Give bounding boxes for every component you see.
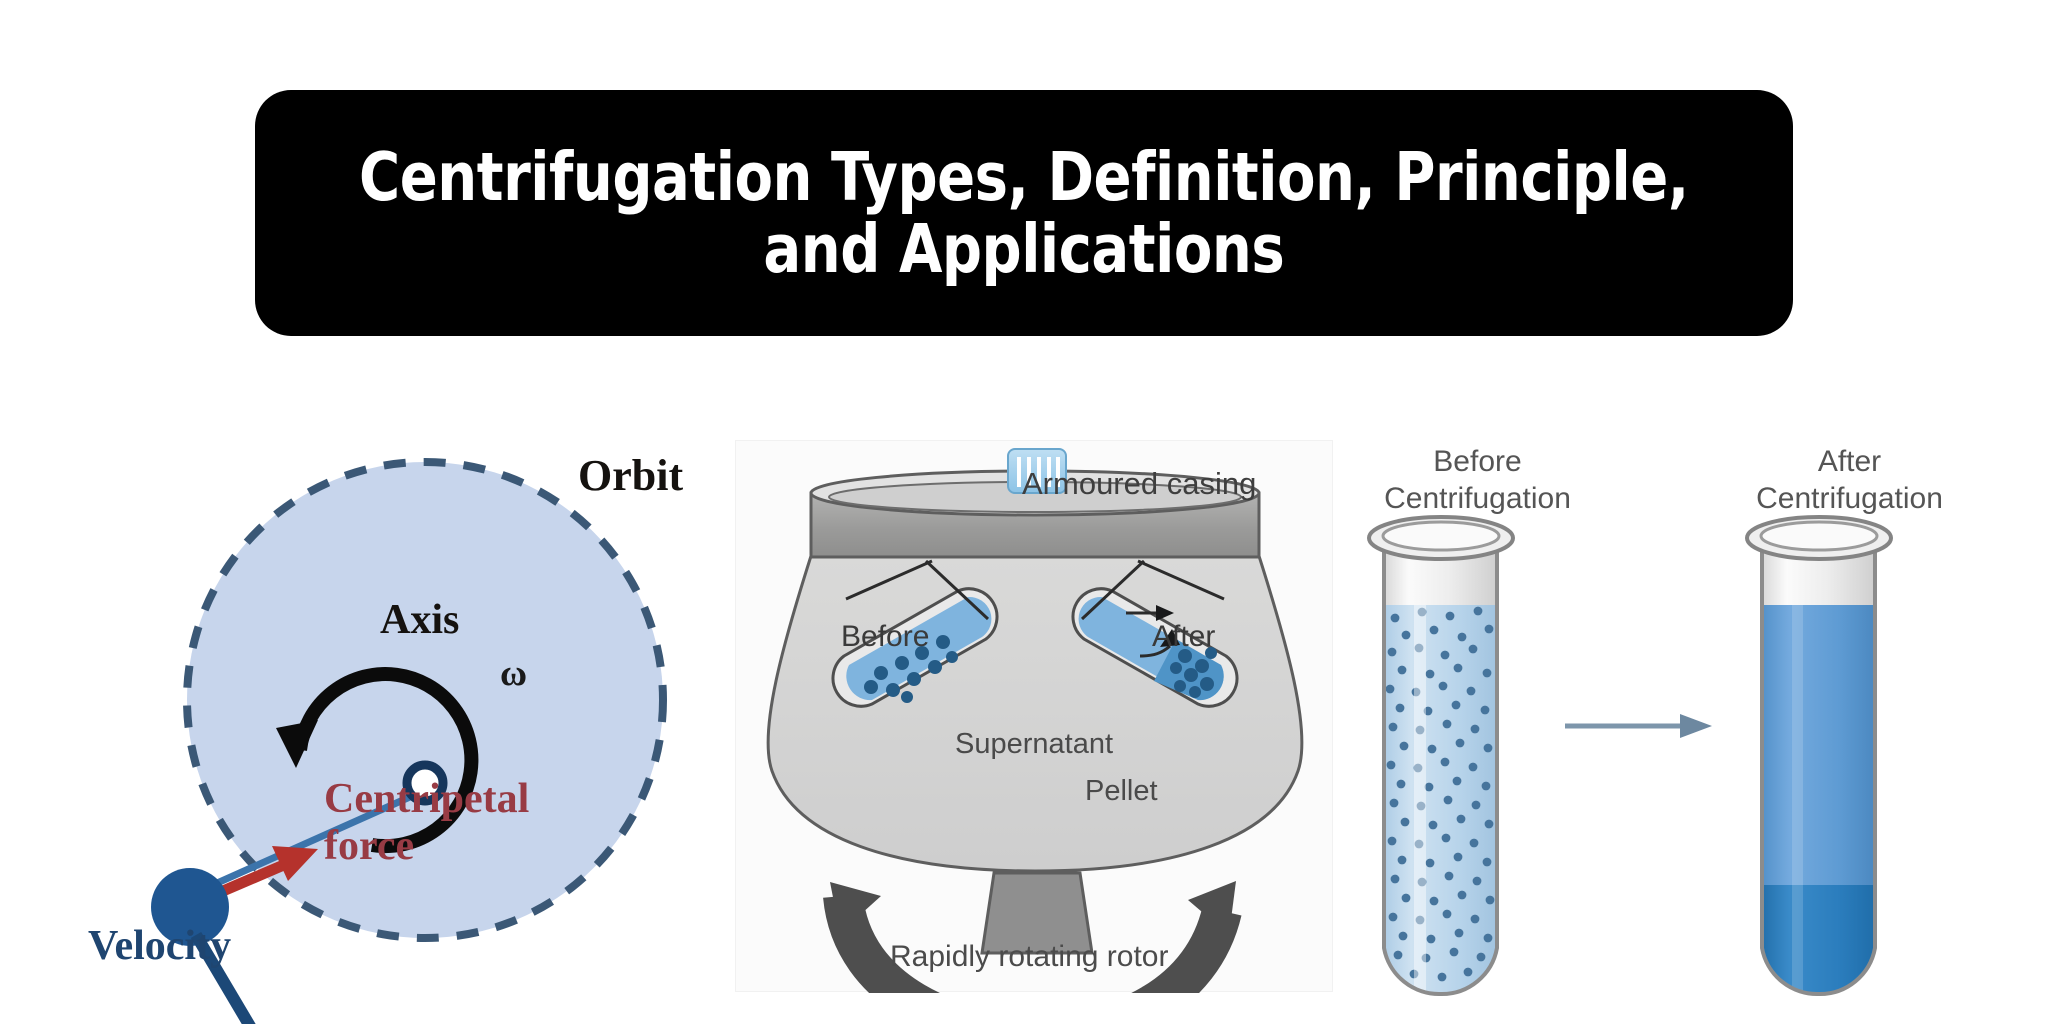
- label-after: After: [1152, 620, 1215, 654]
- label-orbit: Orbit: [578, 450, 683, 501]
- rotor-bowl: [768, 556, 1302, 871]
- tube-after-centrifugation: [1747, 517, 1891, 1005]
- tube-before-centrifugation: [1369, 517, 1513, 1005]
- centrifuge-rotor-graphic: [736, 441, 1334, 993]
- label-armoured-casing: Armoured casing: [1022, 466, 1256, 502]
- page-title-card: Centrifugation Types, Definition, Princi…: [255, 90, 1793, 336]
- label-pellet: Pellet: [1085, 775, 1158, 808]
- page-title-line-1: Centrifugation Types, Definition, Princi…: [359, 138, 1689, 216]
- page-title-line-2: and Applications: [764, 210, 1285, 288]
- tube-comparison-graphic: [1340, 430, 2048, 1024]
- label-supernatant: Supernatant: [955, 728, 1113, 761]
- figure-tube-comparison: [1340, 430, 2048, 1024]
- label-before: Before: [841, 620, 929, 654]
- figure-centrifuge-panel: [735, 440, 1333, 992]
- label-rapidly-rotating-rotor: Rapidly rotating rotor: [890, 940, 1168, 974]
- caption-before-centrifugation: Before Centrifugation: [1365, 444, 1590, 517]
- label-velocity: Velocity: [88, 922, 231, 970]
- page-title: Centrifugation Types, Definition, Princi…: [359, 141, 1689, 286]
- caption-after-centrifugation: After Centrifugation: [1742, 444, 1957, 517]
- transition-arrow: [1565, 714, 1712, 738]
- label-axis: Axis: [380, 596, 459, 644]
- poster-canvas: Centrifugation Types, Definition, Princi…: [0, 0, 2048, 1024]
- label-omega: ω: [500, 652, 527, 695]
- label-centripetal-force: Centripetal force: [324, 776, 529, 870]
